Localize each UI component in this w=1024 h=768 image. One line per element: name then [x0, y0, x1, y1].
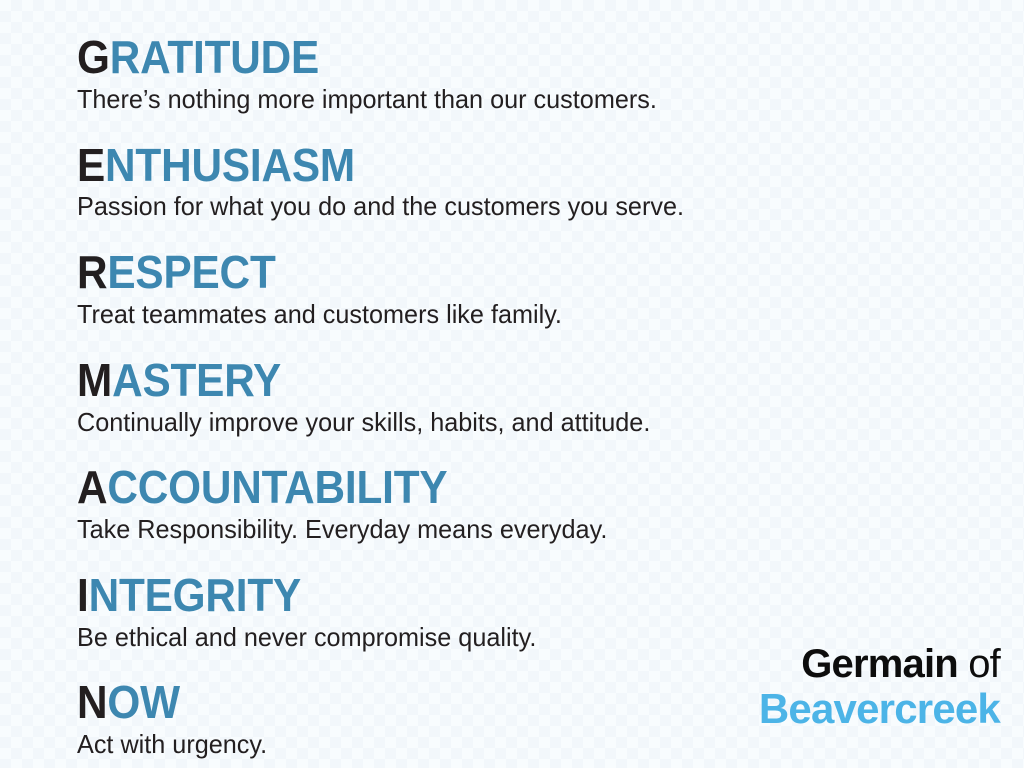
value-heading-rest-accountability: CCOUNTABILITY [107, 461, 447, 513]
value-description-gratitude: There’s nothing more important than our … [77, 84, 996, 115]
value-initial-now: N [77, 676, 107, 728]
value-block-respect: RESPECTTreat teammates and customers lik… [77, 249, 1024, 330]
value-heading-enthusiasm: ENTHUSIASM [77, 142, 948, 189]
value-initial-accountability: A [77, 461, 107, 513]
value-initial-respect: R [77, 246, 107, 298]
value-heading-respect: RESPECT [77, 249, 948, 296]
value-description-accountability: Take Responsibility. Everyday means ever… [77, 514, 996, 545]
value-initial-gratitude: G [77, 31, 110, 83]
value-block-integrity: INTEGRITYBe ethical and never compromise… [77, 572, 1024, 653]
value-heading-rest-now: OW [107, 676, 180, 728]
value-initial-enthusiasm: E [77, 139, 105, 191]
value-description-respect: Treat teammates and customers like famil… [77, 299, 996, 330]
value-heading-integrity: INTEGRITY [77, 572, 948, 619]
value-description-enthusiasm: Passion for what you do and the customer… [77, 191, 996, 222]
value-block-enthusiasm: ENTHUSIASMPassion for what you do and th… [77, 142, 1024, 223]
value-block-mastery: MASTERYContinually improve your skills, … [77, 357, 1024, 438]
value-heading-rest-enthusiasm: NTHUSIASM [105, 139, 355, 191]
value-description-mastery: Continually improve your skills, habits,… [77, 407, 996, 438]
value-initial-mastery: M [77, 354, 112, 406]
value-heading-rest-mastery: ASTERY [112, 354, 281, 406]
value-heading-accountability: ACCOUNTABILITY [77, 464, 948, 511]
value-heading-rest-gratitude: RATITUDE [110, 31, 319, 83]
value-heading-rest-integrity: NTEGRITY [89, 569, 301, 621]
brand-logo-line-primary: Germain of [759, 644, 1000, 684]
brand-connector: of [958, 642, 1000, 686]
brand-name: Germain [801, 642, 958, 686]
value-initial-integrity: I [77, 569, 89, 621]
brand-location: Beavercreek [759, 688, 1000, 730]
value-heading-rest-respect: ESPECT [107, 246, 275, 298]
value-description-now: Act with urgency. [77, 729, 996, 760]
value-heading-mastery: MASTERY [77, 357, 948, 404]
value-block-accountability: ACCOUNTABILITYTake Responsibility. Every… [77, 464, 1024, 545]
brand-logo: Germain of Beavercreek [759, 644, 1000, 730]
value-heading-gratitude: GRATITUDE [77, 34, 948, 81]
values-poster: GRATITUDEThere’s nothing more important … [0, 0, 1024, 768]
value-block-gratitude: GRATITUDEThere’s nothing more important … [77, 34, 1024, 115]
